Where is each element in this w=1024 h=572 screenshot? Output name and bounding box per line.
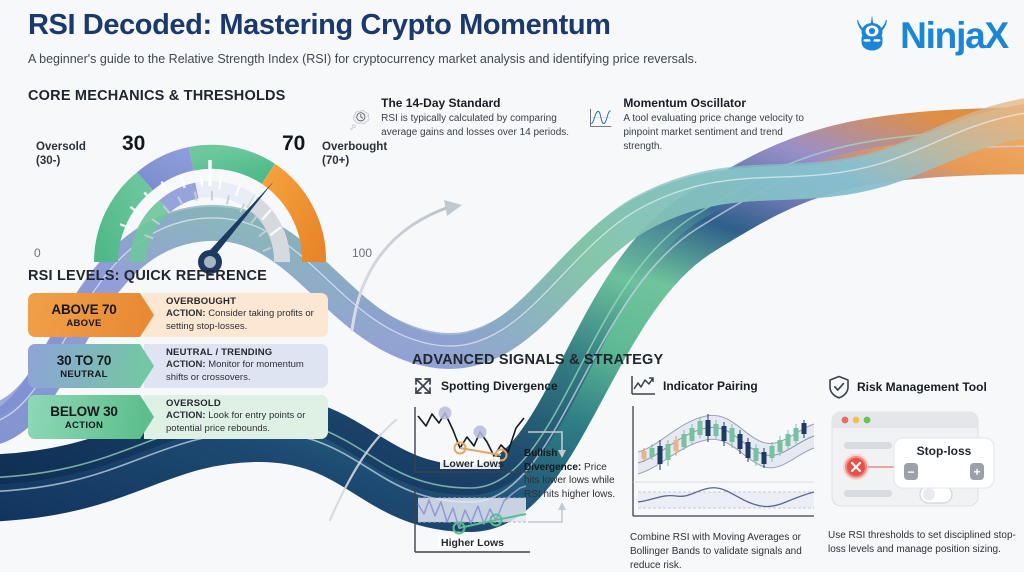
divergence-higher-lows-label: Higher Lows [441,537,504,549]
page-subtitle: A beginner's guide to the Relative Stren… [28,51,828,67]
rsi-level-row: ABOVE 70ABOVEOVERBOUGHTACTION: Consider … [28,293,328,337]
stepper-plus-label: + [973,465,980,479]
gauge-label-overbought: Overbought (70+) [322,140,392,169]
infographic-canvas: RSI Decoded: Mastering Crypto Momentum A… [0,0,1024,572]
rsi-level-row: BELOW 30ACTIONOVERSOLDACTION: Look for e… [28,395,328,439]
callout-14-day-standard: The 14-Day Standard RSI is typically cal… [348,96,573,144]
callout-body: A tool evaluating price change velocity … [623,112,818,153]
rsi-level-row: 30 TO 70NEUTRALNEUTRAL / TRENDINGACTION:… [28,344,328,388]
rsi-level-range: 30 TO 70 [57,353,111,368]
divergence-title: Spotting Divergence [441,379,558,393]
gauge-scale-max: 100 [352,246,372,260]
risk-header: Risk Management Tool [828,375,1018,399]
brand-logo[interactable]: NinjaX [849,12,1008,58]
indicator-pairing-block: Indicator Pairing [630,375,825,572]
candlestick-bollinger-chart [630,404,818,520]
risk-management-block: Risk Management Tool Stop-loss [828,375,1018,557]
callout-title: Momentum Oscillator [623,96,818,110]
rsi-level-badge: BELOW 30ACTION [28,395,140,439]
rsi-level-description: OVERSOLDACTION: Look for entry points or… [144,395,328,439]
logo-text: NinjaX [900,17,1008,54]
rsi-gauge: Oversold (30-) Overbought (70+) 30 70 0 … [60,116,360,266]
divergence-header: Spotting Divergence [412,375,617,397]
callout-momentum-oscillator: Momentum Oscillator A tool evaluating pr… [588,96,818,153]
callout-title: The 14-Day Standard [381,96,573,110]
ninja-helmet-icon [849,12,895,58]
rsi-level-arrow [140,344,154,388]
core-mechanics-heading: CORE MECHANICS & THRESHOLDS [28,88,368,104]
shield-check-icon [828,375,850,399]
gauge-scale-min: 0 [34,246,41,260]
rsi-level-arrow [140,293,154,337]
rsi-level-badge: ABOVE 70ABOVE [28,293,140,337]
gauge-mark-70: 70 [282,132,305,156]
rsi-level-arrow [140,395,154,439]
rsi-level-description: NEUTRAL / TRENDINGACTION: Monitor for mo… [144,344,328,388]
rsi-level-badge: 30 TO 70NEUTRAL [28,344,140,388]
trend-chart-icon [630,375,656,397]
rsi-level-action-label: ACTION: [166,410,206,421]
risk-caption: Use RSI thresholds to set disciplined st… [828,529,1018,557]
gauge-label-oversold: Oversold (30-) [36,140,100,169]
bullish-divergence-title: Bullish Divergence: [524,448,581,473]
rsi-level-tag: ACTION [65,420,103,431]
rsi-level-description: OVERBOUGHTACTION: Consider taking profit… [144,293,328,337]
stop-loss-widget-mockup: Stop-loss − + [828,406,1008,518]
rsi-level-range: BELOW 30 [50,404,117,419]
bullish-divergence-callout: Bullish Divergence: Price hits lower low… [524,447,616,502]
rsi-level-action-label: ACTION: [166,359,206,370]
callout-body: RSI is typically calculated by comparing… [381,112,573,140]
rsi-level-state: OVERBOUGHT [166,296,320,307]
rsi-level-action-label: ACTION: [166,308,206,319]
rsi-level-tag: NEUTRAL [60,369,108,380]
gauge-svg [60,134,360,284]
gauge-mark-30: 30 [122,132,145,156]
rsi-level-range: ABOVE 70 [51,302,116,317]
advanced-signals-heading: ADVANCED SIGNALS & STRATEGY [412,352,663,368]
divergence-lower-lows-label: Lower Lows [443,458,504,470]
risk-title: Risk Management Tool [857,380,987,394]
rsi-level-tag: ABOVE [66,318,101,329]
core-mechanics-section: CORE MECHANICS & THRESHOLDS [28,88,368,266]
pairing-caption: Combine RSI with Moving Averages or Boll… [630,531,825,572]
stepper-minus-label: − [907,465,914,479]
rsi-level-state: NEUTRAL / TRENDING [166,347,320,358]
rsi-levels-section: RSI LEVELS: QUICK REFERENCE ABOVE 70ABOV… [28,268,328,439]
rsi-levels-list: ABOVE 70ABOVEOVERBOUGHTACTION: Consider … [28,293,328,439]
page-title: RSI Decoded: Mastering Crypto Momentum [28,10,828,42]
header: RSI Decoded: Mastering Crypto Momentum A… [28,10,828,67]
pairing-header: Indicator Pairing [630,375,825,397]
rsi-level-state: OVERSOLD [166,398,320,409]
rsi-levels-heading: RSI LEVELS: QUICK REFERENCE [28,268,328,284]
crossing-arrows-icon [412,375,434,397]
thought-bubble-clock-icon [348,96,373,144]
stop-loss-label: Stop-loss [917,444,972,458]
pairing-title: Indicator Pairing [663,379,758,393]
oscillator-wave-chart-icon [588,96,613,142]
